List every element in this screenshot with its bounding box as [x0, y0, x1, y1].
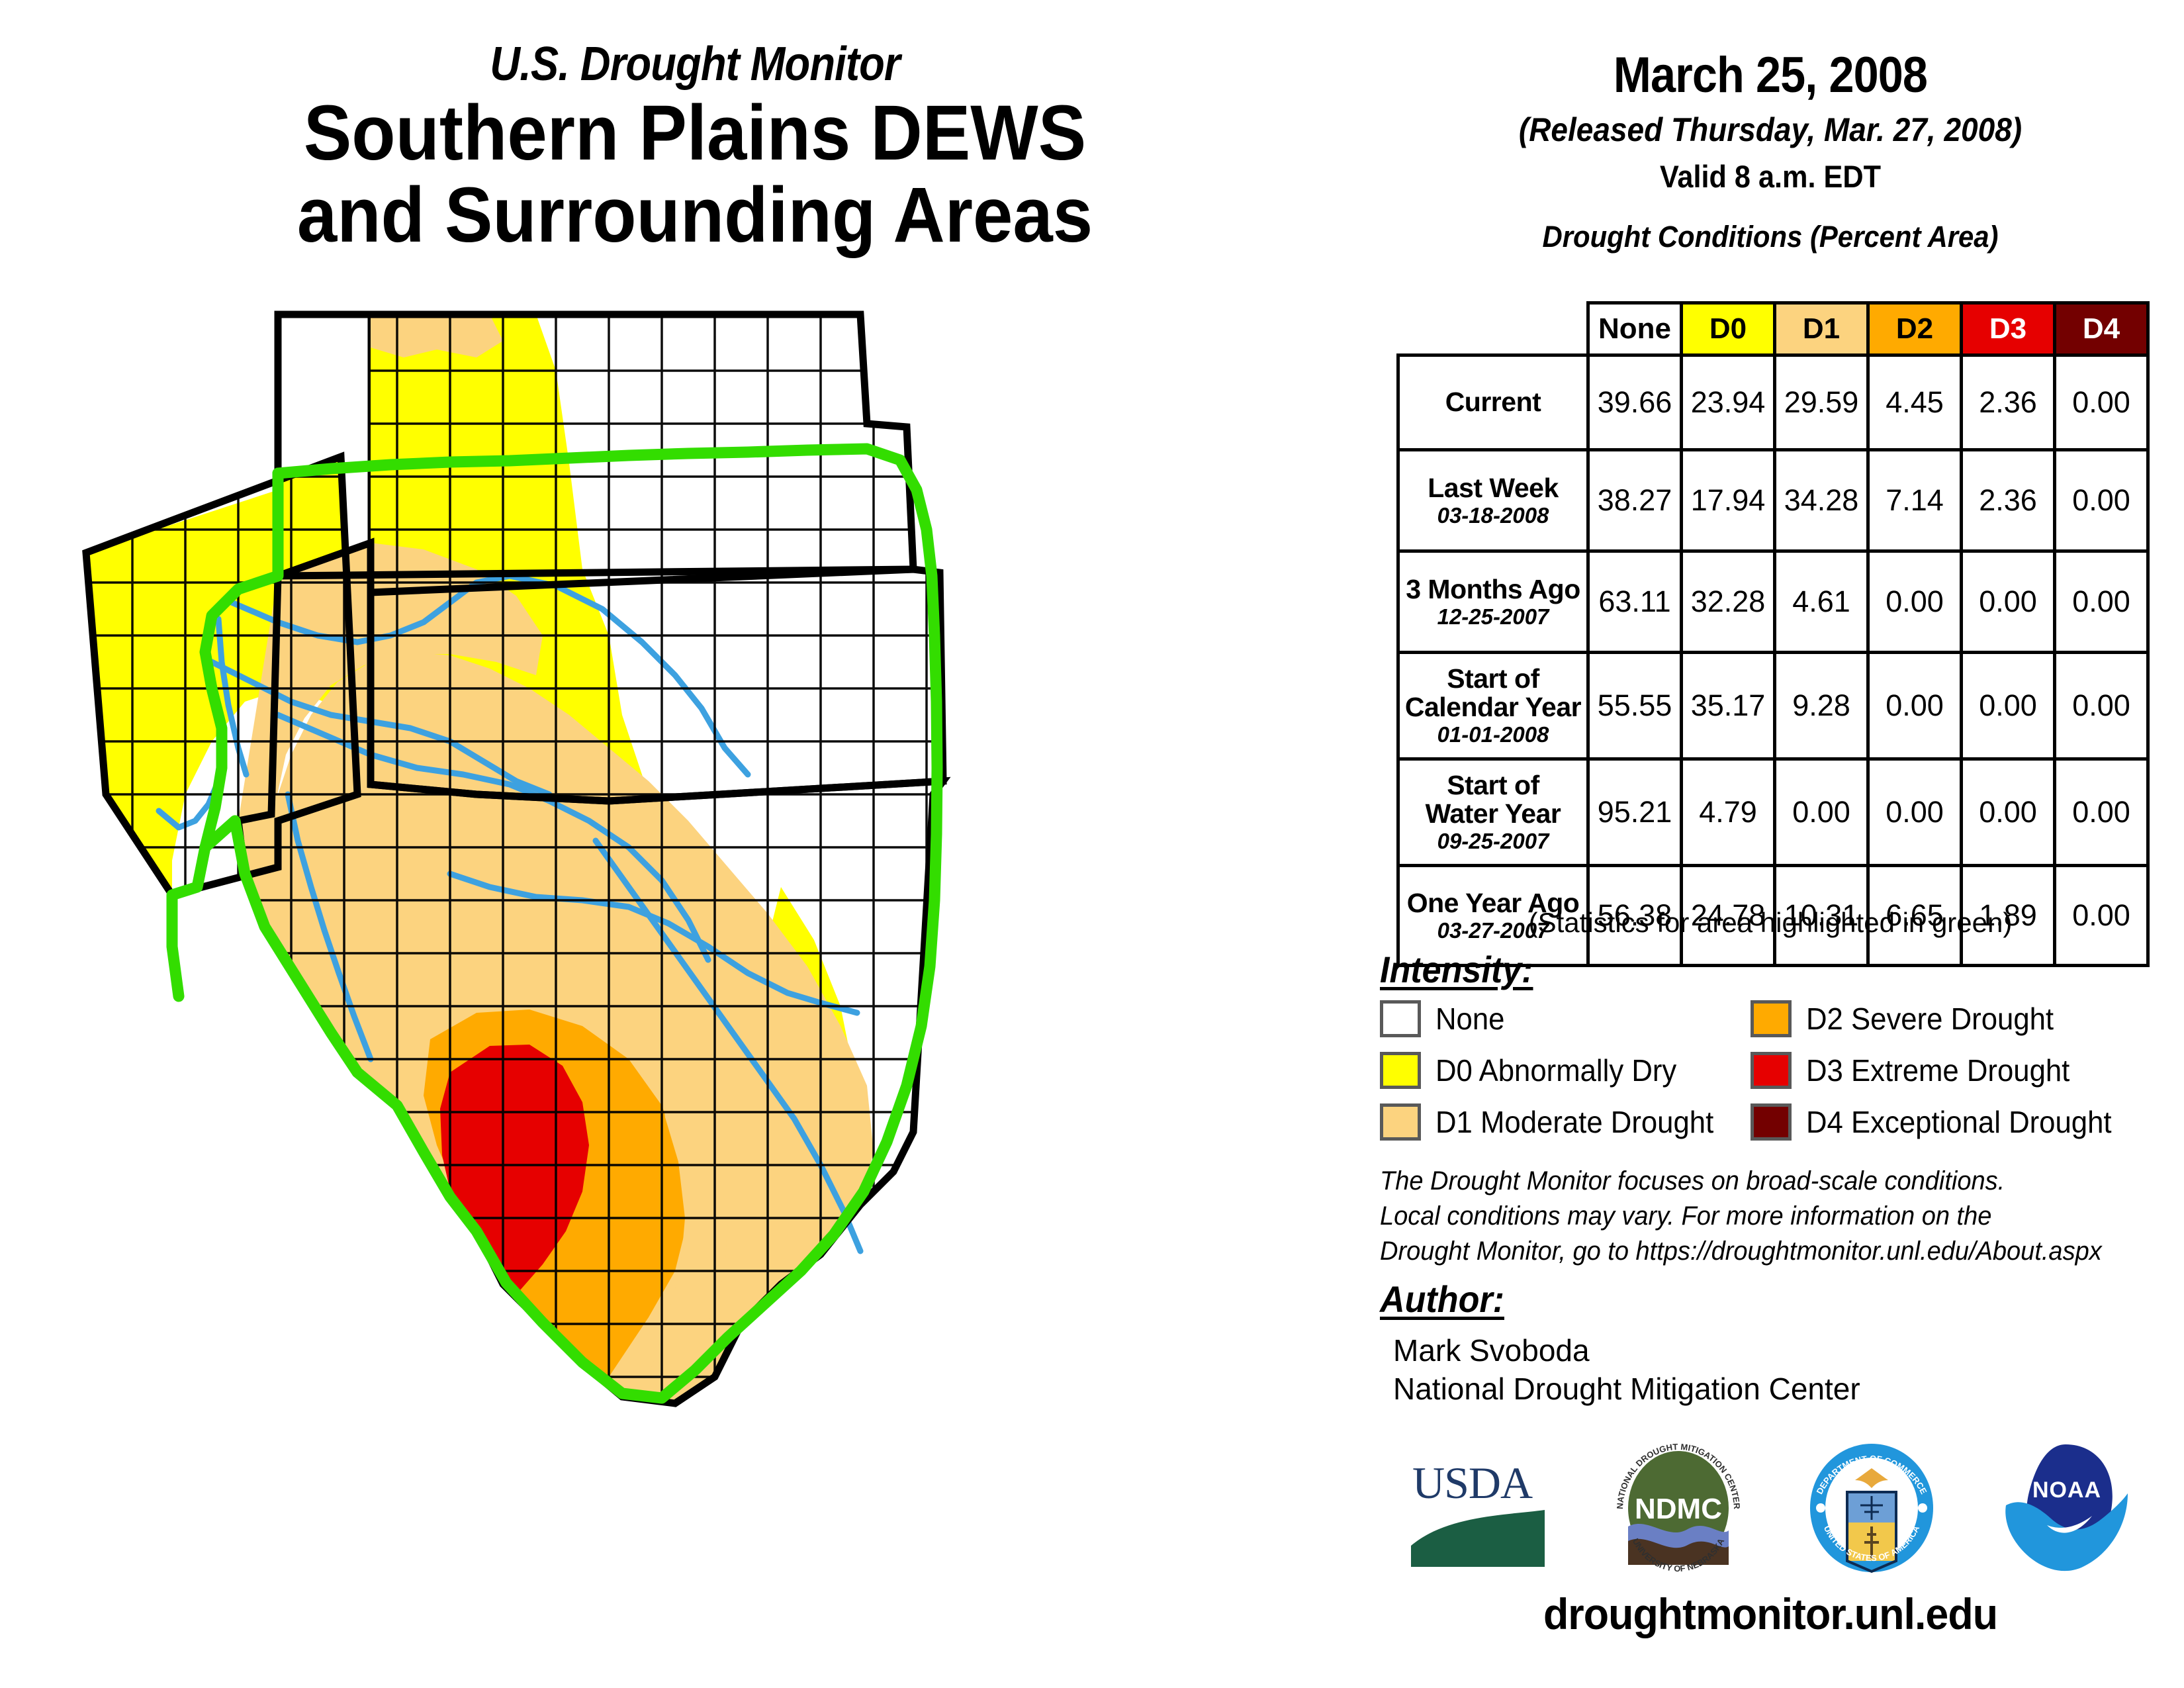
table-cell-d1: 29.59 — [1775, 355, 1868, 450]
table-row-label: Last Week03-18-2008 — [1398, 450, 1588, 551]
legend-label-d0: D0 Abnormally Dry — [1435, 1053, 1676, 1088]
noaa-logo: NOAA — [1998, 1442, 2134, 1577]
legend-item-d2[interactable]: D2 Severe Drought — [1751, 1000, 2148, 1037]
table-cell-d2: 7.14 — [1868, 450, 1962, 551]
table-cell-d0: 32.28 — [1682, 551, 1775, 653]
legend-label-none: None — [1435, 1001, 1504, 1037]
main-title-line1: Southern Plains DEWS — [147, 94, 1243, 172]
table-row-label: Start ofWater Year09-25-2007 — [1398, 759, 1588, 866]
table-col-header-none: None — [1588, 303, 1682, 355]
intensity-legend: NoneD2 Severe DroughtD0 Abnormally DryD3… — [1380, 993, 2164, 1148]
table-cell-d2: 0.00 — [1868, 653, 1962, 759]
intensity-heading: Intensity: — [1380, 948, 1533, 991]
table-col-header-d1: D1 — [1775, 303, 1868, 355]
table-corner-cell — [1398, 303, 1588, 355]
table-cell-d4: 0.00 — [2055, 551, 2148, 653]
disclaimer-line-1: The Drought Monitor focuses on broad-sca… — [1380, 1164, 2134, 1199]
table-cell-d0: 4.79 — [1682, 759, 1775, 866]
table-cell-d1: 9.28 — [1775, 653, 1868, 759]
legend-item-d3[interactable]: D3 Extreme Drought — [1751, 1052, 2148, 1089]
table-cell-d1: 34.28 — [1775, 450, 1868, 551]
disclaimer-line-2: Local conditions may vary. For more info… — [1380, 1199, 2134, 1234]
table-row-date: 01-01-2008 — [1404, 724, 1582, 747]
author-organization: National Drought Mitigation Center — [1393, 1370, 1860, 1409]
legend-label-d2: D2 Severe Drought — [1806, 1001, 2054, 1037]
drought-conditions-table-wrap: NoneD0D1D2D3D4Current39.6623.9429.594.45… — [1396, 301, 2148, 967]
legend-label-d3: D3 Extreme Drought — [1806, 1053, 2070, 1088]
table-cell-d2: 0.00 — [1868, 759, 1962, 866]
agency-logos: USDA NDMC NATIONAL DROUGHT MITIGATION CE… — [1377, 1440, 2164, 1579]
table-col-header-d3: D3 — [1962, 303, 2055, 355]
svg-text:NDMC: NDMC — [1635, 1493, 1722, 1525]
disclaimer-text: The Drought Monitor focuses on broad-sca… — [1380, 1164, 2134, 1270]
ndmc-logo: NDMC NATIONAL DROUGHT MITIGATION CENTER … — [1611, 1442, 1747, 1577]
legend-item-none[interactable]: None — [1380, 1000, 1751, 1037]
table-cell-d1: 4.61 — [1775, 551, 1868, 653]
table-cell-d3: 0.00 — [1962, 551, 2055, 653]
table-cell-d3: 2.36 — [1962, 450, 2055, 551]
legend-swatch-d1 — [1380, 1103, 1421, 1141]
legend-item-d4[interactable]: D4 Exceptional Drought — [1751, 1103, 2148, 1141]
table-cell-d4: 0.00 — [2055, 653, 2148, 759]
table-cell-d0: 35.17 — [1682, 653, 1775, 759]
table-cell-d4: 0.00 — [2055, 450, 2148, 551]
table-row-date: 12-25-2007 — [1404, 606, 1582, 629]
legend-swatch-d4 — [1751, 1103, 1792, 1141]
legend-swatch-d3 — [1751, 1052, 1792, 1089]
report-header: March 25, 2008 (Released Thursday, Mar. … — [1377, 46, 2164, 254]
author-heading: Author: — [1380, 1278, 1504, 1321]
table-row: Start ofCalendar Year01-01-200855.5535.1… — [1398, 653, 2148, 759]
legend-swatch-d0 — [1380, 1052, 1421, 1089]
page-title: U.S. Drought Monitor Southern Plains DEW… — [99, 40, 1291, 254]
table-cell-d4: 0.00 — [2055, 759, 2148, 866]
legend-item-d1[interactable]: D1 Moderate Drought — [1380, 1103, 1751, 1141]
table-row: Current39.6623.9429.594.452.360.00 — [1398, 355, 2148, 450]
table-caption: Drought Conditions (Percent Area) — [1404, 220, 2137, 254]
drought-conditions-table: NoneD0D1D2D3D4Current39.6623.9429.594.45… — [1396, 301, 2150, 967]
svg-text:USDA: USDA — [1412, 1458, 1533, 1508]
table-cell-d4: 0.00 — [2055, 355, 2148, 450]
table-col-header-d2: D2 — [1868, 303, 1962, 355]
table-cell-d0: 17.94 — [1682, 450, 1775, 551]
table-cell-none: 95.21 — [1588, 759, 1682, 866]
legend-label-d4: D4 Exceptional Drought — [1806, 1104, 2112, 1140]
table-row-date: 03-18-2008 — [1404, 504, 1582, 528]
valid-time: Valid 8 a.m. EDT — [1408, 158, 2133, 195]
table-cell-d2: 0.00 — [1868, 551, 1962, 653]
department-of-commerce-logo: DEPARTMENT OF COMMERCE UNITED STATES OF … — [1807, 1442, 1936, 1577]
table-row-label: 3 Months Ago12-25-2007 — [1398, 551, 1588, 653]
table-row: 3 Months Ago12-25-200763.1132.284.610.00… — [1398, 551, 2148, 653]
green-area-note: (Statistics for area highlighted in gree… — [1377, 907, 2164, 939]
table-row: Last Week03-18-200838.2717.9434.287.142.… — [1398, 450, 2148, 551]
table-col-header-d0: D0 — [1682, 303, 1775, 355]
table-cell-d3: 0.00 — [1962, 653, 2055, 759]
author-block: Mark Svoboda National Drought Mitigation… — [1393, 1332, 1860, 1408]
legend-label-d1: D1 Moderate Drought — [1435, 1104, 1713, 1140]
main-title-line2: and Surrounding Areas — [147, 176, 1243, 254]
legend-swatch-d2 — [1751, 1000, 1792, 1037]
table-cell-d2: 4.45 — [1868, 355, 1962, 450]
author-name: Mark Svoboda — [1393, 1332, 1860, 1370]
table-row: Start ofWater Year09-25-200795.214.790.0… — [1398, 759, 2148, 866]
website-url[interactable]: droughtmonitor.unl.edu — [1396, 1589, 2145, 1639]
legend-item-d0[interactable]: D0 Abnormally Dry — [1380, 1052, 1751, 1089]
table-cell-d1: 0.00 — [1775, 759, 1868, 866]
drought-map-svg[interactable] — [79, 291, 1350, 1602]
table-cell-none: 39.66 — [1588, 355, 1682, 450]
table-row-date: 09-25-2007 — [1404, 830, 1582, 853]
disclaimer-line-3: Drought Monitor, go to https://droughtmo… — [1380, 1234, 2134, 1269]
legend-swatch-none — [1380, 1000, 1421, 1037]
table-row-label: Start ofCalendar Year01-01-2008 — [1398, 653, 1588, 759]
table-cell-d3: 0.00 — [1962, 759, 2055, 866]
table-col-header-d4: D4 — [2055, 303, 2148, 355]
table-cell-d3: 2.36 — [1962, 355, 2055, 450]
table-row-label: Current — [1398, 355, 1588, 450]
table-cell-d0: 23.94 — [1682, 355, 1775, 450]
table-header-row: NoneD0D1D2D3D4 — [1398, 303, 2148, 355]
table-cell-none: 38.27 — [1588, 450, 1682, 551]
table-cell-none: 63.11 — [1588, 551, 1682, 653]
svg-text:NOAA: NOAA — [2032, 1477, 2101, 1503]
table-cell-none: 55.55 — [1588, 653, 1682, 759]
usda-logo: USDA — [1407, 1446, 1549, 1572]
release-date: (Released Thursday, Mar. 27, 2008) — [1408, 111, 2133, 149]
program-subtitle: U.S. Drought Monitor — [171, 40, 1219, 90]
report-date: March 25, 2008 — [1416, 46, 2125, 104]
drought-map[interactable] — [79, 291, 1350, 1602]
